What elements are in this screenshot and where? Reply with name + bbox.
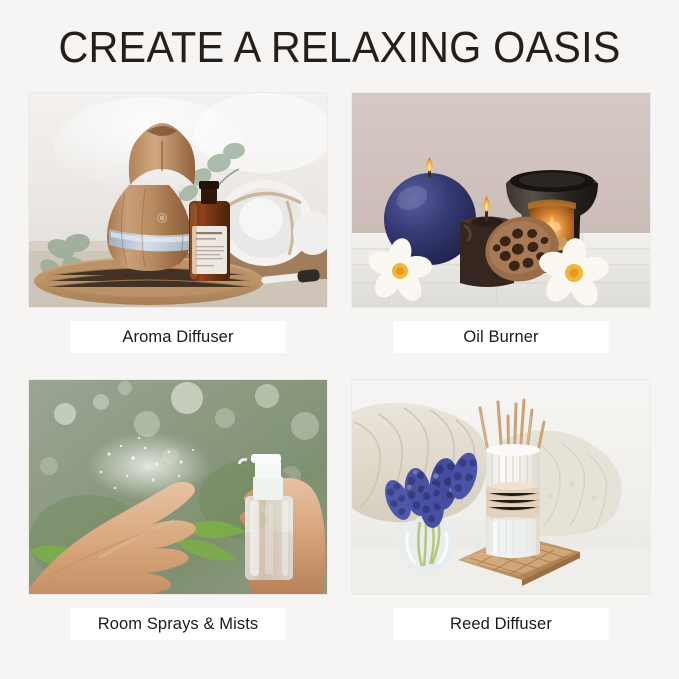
oil-burner-photo[interactable] <box>352 93 650 307</box>
caption-aroma-diffuser: Aroma Diffuser <box>71 321 286 353</box>
category-card-oil-burner[interactable]: Oil Burner <box>352 93 650 352</box>
category-card-reed-diffuser[interactable]: Reed Diffuser <box>352 380 650 639</box>
category-grid: Aroma Diffuser <box>29 93 650 659</box>
caption-room-sprays-mists: Room Sprays & Mists <box>71 608 286 640</box>
page-title: CREATE A RELAXING OASIS <box>20 22 658 74</box>
category-card-room-sprays-mists[interactable]: Room Sprays & Mists <box>29 380 327 639</box>
caption-oil-burner: Oil Burner <box>394 321 609 353</box>
category-card-aroma-diffuser[interactable]: Aroma Diffuser <box>29 93 327 352</box>
caption-reed-diffuser: Reed Diffuser <box>394 608 609 640</box>
reed-diffuser-photo[interactable] <box>352 380 650 594</box>
room-sprays-photo[interactable] <box>29 380 327 594</box>
aroma-diffuser-photo[interactable] <box>29 93 327 307</box>
